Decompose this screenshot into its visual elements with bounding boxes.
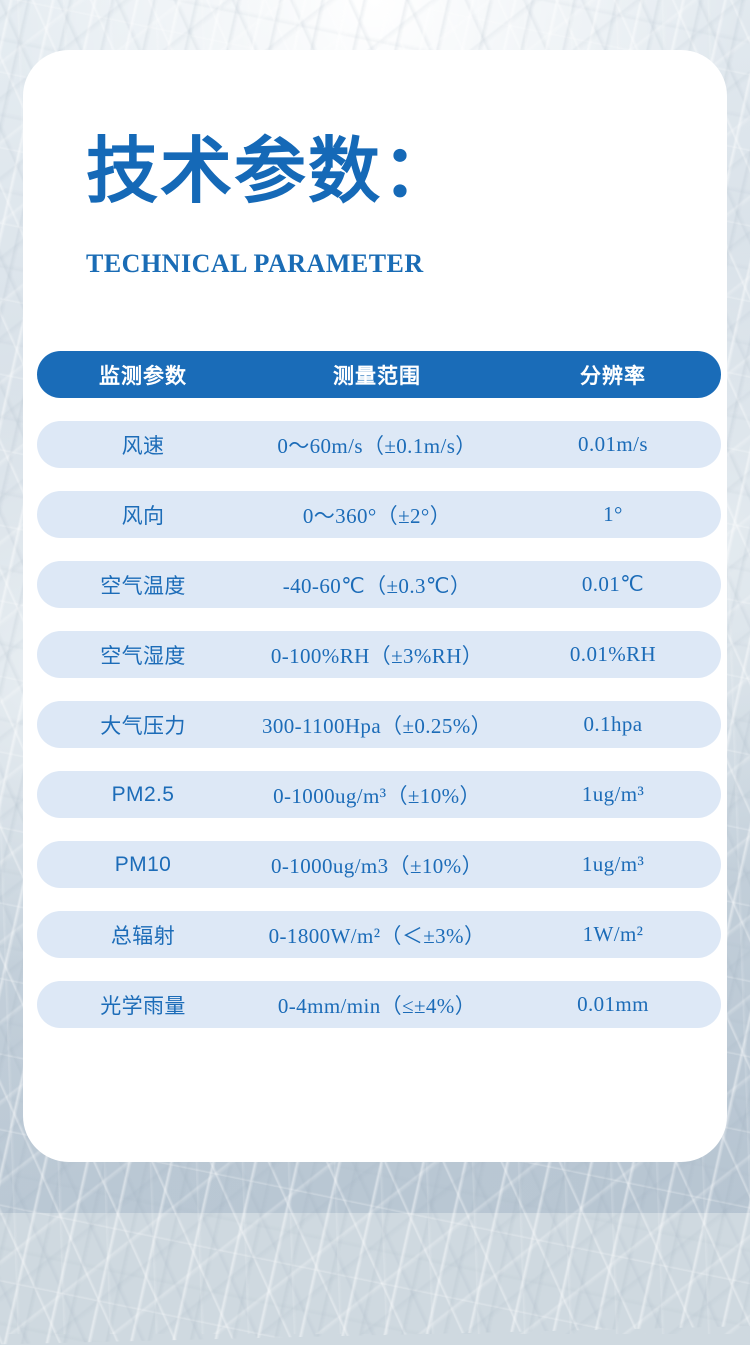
table-row: 空气温度-40-60℃（±0.3℃）0.01℃ — [37, 561, 721, 608]
cell-range: 0～360°（±2°） — [249, 500, 505, 530]
cell-range: 0-1000ug/m³（±10%） — [249, 780, 505, 810]
cell-parameter: PM10 — [37, 853, 249, 877]
cell-resolution: 0.1hpa — [505, 712, 721, 737]
column-header-resolution: 分辨率 — [505, 360, 721, 390]
column-header-parameter: 监测参数 — [37, 360, 249, 390]
cell-resolution: 0.01mm — [505, 992, 721, 1017]
cell-range: 0-1000ug/m3（±10%） — [249, 850, 505, 880]
cell-parameter: 总辐射 — [37, 920, 249, 950]
table-header-row: 监测参数 测量范围 分辨率 — [37, 351, 721, 398]
cell-parameter: 大气压力 — [37, 710, 249, 740]
table-row: 风速0～60m/s（±0.1m/s）0.01m/s — [37, 421, 721, 468]
spec-card: 技术参数： TECHNICAL PARAMETER 监测参数 测量范围 分辨率 … — [23, 50, 727, 1162]
cell-parameter: 空气温度 — [37, 570, 249, 600]
cell-resolution: 1° — [505, 502, 721, 527]
technical-parameter-table: 监测参数 测量范围 分辨率 风速0～60m/s（±0.1m/s）0.01m/s风… — [37, 351, 721, 1028]
cell-range: -40-60℃（±0.3℃） — [249, 570, 505, 600]
cell-range: 0-1800W/m²（＜±3%） — [249, 920, 505, 950]
cell-range: 0～60m/s（±0.1m/s） — [249, 430, 505, 460]
cell-range: 300-1100Hpa（±0.25%） — [249, 710, 505, 740]
cell-parameter: PM2.5 — [37, 783, 249, 807]
table-row: PM100-1000ug/m3（±10%）1ug/m³ — [37, 841, 721, 888]
table-row: 风向0～360°（±2°）1° — [37, 491, 721, 538]
page-subtitle: TECHNICAL PARAMETER — [86, 249, 424, 279]
table-row: 光学雨量0-4mm/min（≤±4%）0.01mm — [37, 981, 721, 1028]
page-title: 技术参数： — [86, 136, 456, 208]
cell-parameter: 风速 — [37, 430, 249, 460]
table-body: 风速0～60m/s（±0.1m/s）0.01m/s风向0～360°（±2°）1°… — [37, 421, 721, 1028]
cell-parameter: 风向 — [37, 500, 249, 530]
table-row: 大气压力300-1100Hpa（±0.25%）0.1hpa — [37, 701, 721, 748]
cell-parameter: 光学雨量 — [37, 990, 249, 1020]
table-row: 空气湿度0-100%RH（±3%RH）0.01%RH — [37, 631, 721, 678]
cell-range: 0-100%RH（±3%RH） — [249, 640, 505, 670]
cell-resolution: 0.01℃ — [505, 572, 721, 597]
cell-parameter: 空气湿度 — [37, 640, 249, 670]
cell-resolution: 0.01m/s — [505, 432, 721, 457]
column-header-range: 测量范围 — [249, 360, 505, 390]
table-row: PM2.50-1000ug/m³（±10%）1ug/m³ — [37, 771, 721, 818]
cell-range: 0-4mm/min（≤±4%） — [249, 990, 505, 1020]
cell-resolution: 0.01%RH — [505, 642, 721, 667]
cell-resolution: 1ug/m³ — [505, 782, 721, 807]
cell-resolution: 1W/m² — [505, 922, 721, 947]
table-row: 总辐射0-1800W/m²（＜±3%）1W/m² — [37, 911, 721, 958]
cell-resolution: 1ug/m³ — [505, 852, 721, 877]
